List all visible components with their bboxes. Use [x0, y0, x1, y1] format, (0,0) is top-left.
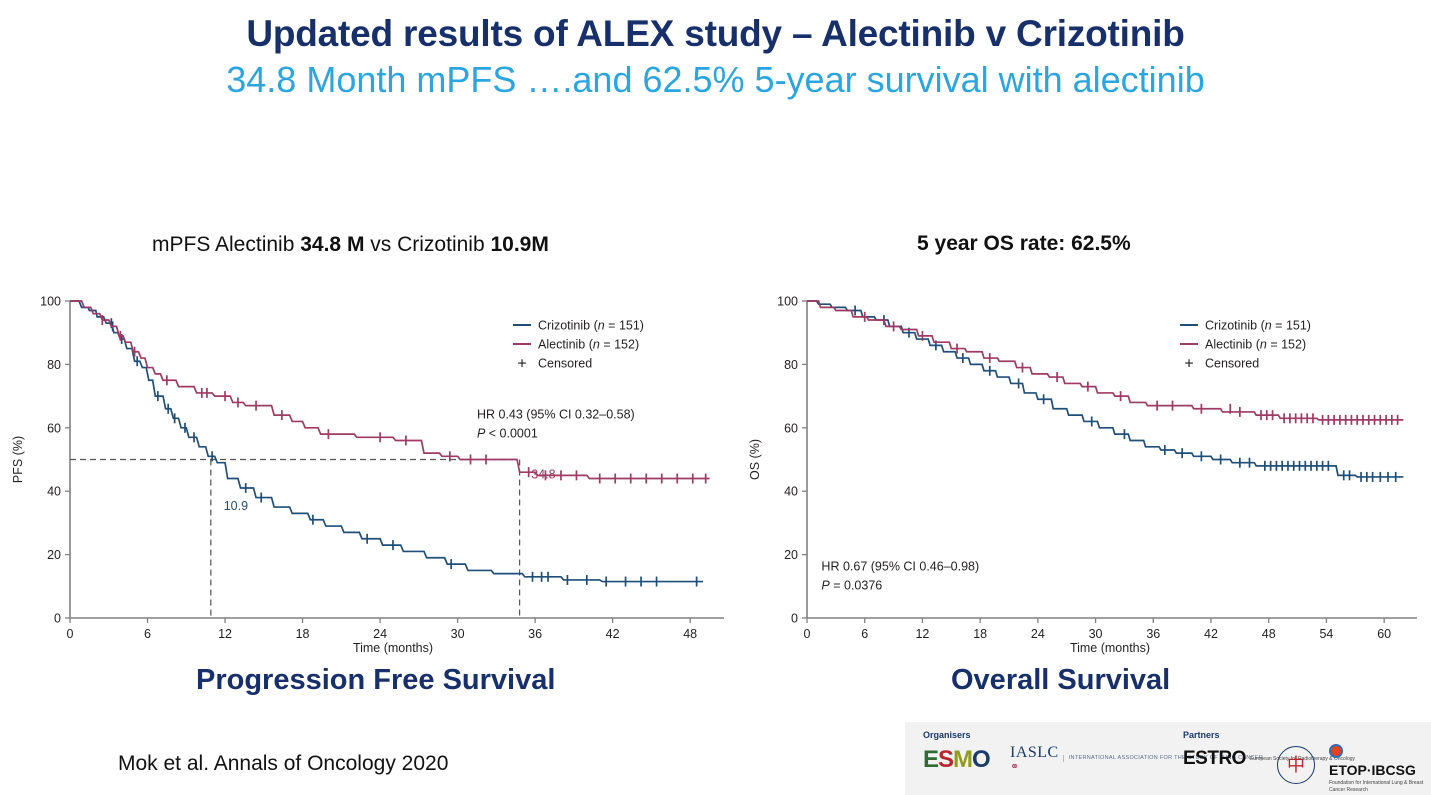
censored-plus-icon: +: [517, 356, 526, 373]
x-tick-label: 24: [373, 627, 387, 641]
km-curve: [807, 301, 1403, 477]
x-tick-label: 6: [144, 627, 151, 641]
right-chart-header: 5 year OS rate: 62.5%: [917, 232, 1131, 256]
partners-label: Partners: [1183, 730, 1220, 740]
organisers-label: Organisers: [923, 730, 971, 740]
y-axis-label: OS (%): [748, 439, 762, 480]
page-subtitle: 34.8 Month mPFS ….and 62.5% 5-year survi…: [0, 58, 1431, 102]
legend-label: Crizotinib (n = 151): [1205, 319, 1311, 333]
legend-label: Censored: [538, 357, 592, 371]
x-tick-label: 48: [683, 627, 697, 641]
y-tick-label: 20: [47, 548, 61, 562]
x-tick-label: 36: [528, 627, 542, 641]
y-tick-label: 60: [784, 421, 798, 435]
y-tick-label: 100: [40, 295, 61, 309]
left-chart-header: mPFS Alectinib 34.8 M vs Crizotinib 10.9…: [152, 233, 549, 257]
x-tick-label: 18: [296, 627, 310, 641]
x-tick-label: 54: [1319, 627, 1333, 641]
estro-label: ESTRO: [1183, 748, 1246, 770]
x-tick-label: 0: [67, 627, 74, 641]
chart-annotation: HR 0.67 (95% CI 0.46–0.98): [821, 559, 979, 573]
x-tick-label: 18: [973, 627, 987, 641]
left-header-prefix: mPFS Alectinib: [152, 233, 300, 256]
legend-label: Alectinib (n = 152): [538, 338, 639, 352]
x-tick-label: 42: [606, 627, 620, 641]
y-tick-label: 0: [54, 612, 61, 626]
citation-text: Mok et al. Annals of Oncology 2020: [118, 752, 448, 776]
x-tick-label: 36: [1146, 627, 1160, 641]
x-tick-label: 12: [915, 627, 929, 641]
pfs-caption: Progression Free Survival: [196, 664, 555, 697]
x-tick-label: 0: [804, 627, 811, 641]
pfs-kaplan-meier-chart: 0612182430364248020406080100Time (months…: [8, 283, 728, 658]
legend-label: Alectinib (n = 152): [1205, 338, 1306, 352]
y-tick-label: 0: [791, 612, 798, 626]
os-plot: 06121824303642485460020406080100Time (mo…: [745, 283, 1425, 658]
x-axis-label: Time (months): [1070, 641, 1150, 655]
y-axis-label: PFS (%): [11, 436, 25, 483]
x-tick-label: 12: [218, 627, 232, 641]
y-tick-label: 20: [784, 548, 798, 562]
x-tick-label: 42: [1204, 627, 1218, 641]
y-tick-label: 80: [47, 358, 61, 372]
legend-label: Crizotinib (n = 151): [538, 319, 644, 333]
chart-annotation: P = 0.0376: [821, 578, 882, 592]
slide-root: Updated results of ALEX study – Alectini…: [0, 0, 1431, 795]
esmo-logo: ESMO: [923, 746, 990, 774]
chart-annotation: HR 0.43 (95% CI 0.32–0.58): [477, 407, 635, 421]
y-tick-label: 100: [777, 295, 798, 309]
chart-annotation: 10.9: [224, 499, 248, 513]
os-kaplan-meier-chart: 06121824303642485460020406080100Time (mo…: [745, 283, 1425, 658]
footer-logo-band: Organisers Partners ESMO IASLC ⚭ INTERNA…: [905, 722, 1431, 795]
etop-ibcsg-logo: ETOP·IBCSG Foundation for International …: [1329, 744, 1431, 794]
chart-annotation: 34.8: [531, 468, 555, 482]
x-axis-label: Time (months): [353, 641, 433, 655]
title-block: Updated results of ALEX study – Alectini…: [0, 12, 1431, 102]
x-tick-label: 30: [1089, 627, 1103, 641]
page-title: Updated results of ALEX study – Alectini…: [0, 12, 1431, 56]
left-header-mid: vs Crizotinib: [364, 233, 490, 256]
y-tick-label: 40: [47, 485, 61, 499]
y-tick-label: 60: [47, 421, 61, 435]
x-tick-label: 30: [451, 627, 465, 641]
csco-logo: 中: [1277, 746, 1315, 784]
left-header-value-alectinib: 34.8 M: [300, 233, 364, 256]
x-tick-label: 6: [861, 627, 868, 641]
etop-dot-icon: [1329, 744, 1343, 758]
chart-annotation: P < 0.0001: [477, 426, 538, 440]
y-tick-label: 80: [784, 358, 798, 372]
x-tick-label: 48: [1262, 627, 1276, 641]
pfs-plot: 0612182430364248020406080100Time (months…: [8, 283, 728, 658]
legend-label: Censored: [1205, 357, 1259, 371]
etop-label: ETOP·IBCSG: [1329, 762, 1416, 778]
x-tick-label: 60: [1377, 627, 1391, 641]
x-tick-label: 24: [1031, 627, 1045, 641]
os-caption: Overall Survival: [951, 664, 1170, 697]
censored-plus-icon: +: [1184, 356, 1193, 373]
y-tick-label: 40: [784, 485, 798, 499]
km-curve: [807, 301, 1403, 420]
csco-glyph: 中: [1287, 756, 1305, 774]
etop-subtitle: Foundation for International Lung & Brea…: [1329, 780, 1431, 794]
left-header-value-crizotinib: 10.9M: [490, 233, 548, 256]
